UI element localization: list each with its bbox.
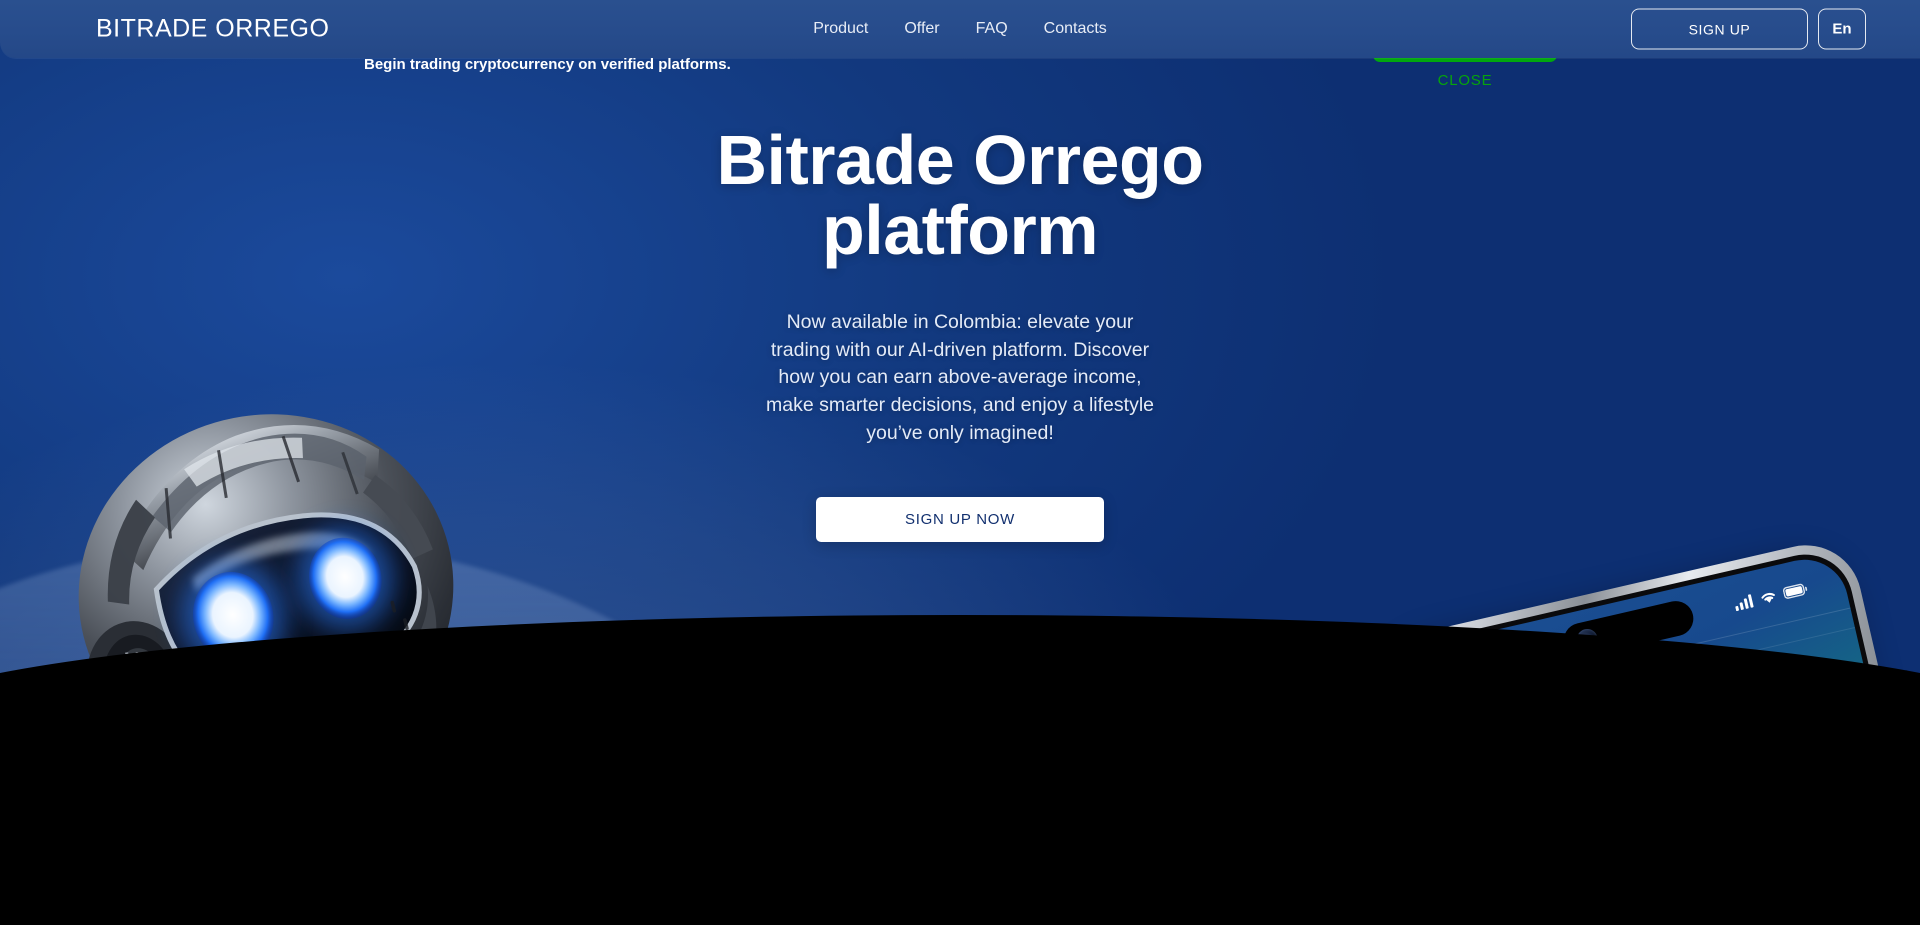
- site-logo[interactable]: BITRADE ORREGO: [96, 15, 329, 44]
- sign-up-now-button[interactable]: SIGN UP NOW: [816, 497, 1104, 542]
- close-banner-button[interactable]: CLOSE: [1373, 72, 1557, 89]
- header-actions: SIGN UP En: [1631, 9, 1866, 50]
- promo-banner: [0, 789, 1920, 925]
- main-navigation: Product Offer FAQ Contacts: [811, 16, 1109, 42]
- nav-item-product[interactable]: Product: [811, 16, 870, 42]
- nav-item-faq[interactable]: FAQ: [974, 16, 1010, 42]
- page-root: 9:41: [0, 0, 1920, 925]
- sign-up-button[interactable]: SIGN UP: [1631, 9, 1808, 50]
- site-header: BITRADE ORREGO Product Offer FAQ Contact…: [0, 0, 1920, 58]
- language-selector-button[interactable]: En: [1818, 9, 1866, 50]
- nav-item-contacts[interactable]: Contacts: [1042, 16, 1109, 42]
- nav-item-offer[interactable]: Offer: [902, 16, 941, 42]
- banner-subtitle: Begin trading cryptocurrency on verified…: [364, 56, 731, 73]
